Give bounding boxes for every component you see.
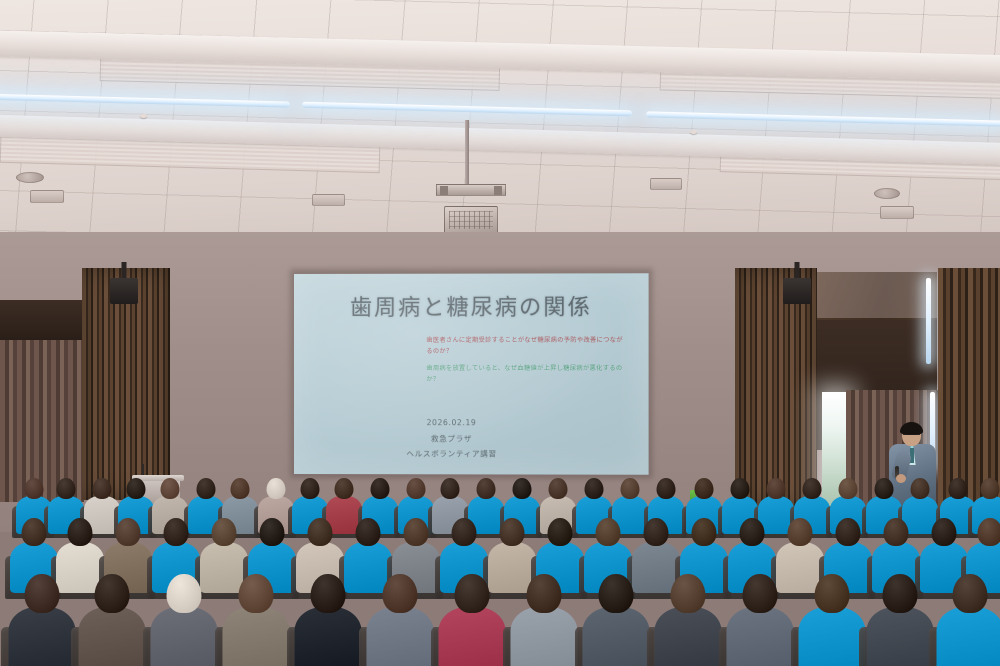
slide-footer-event: ヘルスボランティア講習 [294, 446, 610, 462]
audience-member-head [22, 518, 47, 546]
audience-member-head [836, 518, 861, 546]
audience-member-head [356, 518, 381, 546]
slide-surface: 歯周病と糖尿病の関係 歯医者さんに定期受診することがなぜ糖尿病の予防や改善につな… [294, 273, 649, 475]
audience-member-head [197, 478, 216, 499]
audience-member-head [212, 518, 237, 546]
audience-member-head [127, 478, 146, 499]
audience-member-head [500, 518, 525, 546]
audience-member [654, 574, 721, 666]
audience-member-head [548, 518, 573, 546]
audience-member-head [875, 478, 894, 499]
audience-member-head [742, 574, 777, 613]
audience-member-head [596, 518, 621, 546]
audience-member [936, 574, 1000, 666]
ceiling-round-vent-right [874, 188, 900, 199]
audience-member-head [441, 478, 460, 499]
wall-speaker-right [783, 278, 811, 304]
audience-member-head [166, 574, 201, 613]
audience-member-head [621, 478, 640, 499]
light-strip-vertical-upper [926, 278, 931, 364]
audience-member-head [407, 478, 426, 499]
audience-member [438, 574, 505, 666]
audience-member-head [657, 478, 676, 499]
audience-member [8, 574, 75, 666]
audience-member-head [803, 478, 822, 499]
audience-member-head [238, 574, 273, 613]
audience-member-head [404, 518, 429, 546]
audience-member-head [932, 518, 957, 546]
slide-footer-venue: 救急プラザ [294, 431, 610, 447]
audience-member [726, 574, 793, 666]
audience-member-torso [8, 607, 75, 666]
audience-member-head [814, 574, 849, 613]
audience-member-torso [866, 607, 933, 666]
projection-screen: 歯周病と糖尿病の関係 歯医者さんに定期受診することがなぜ糖尿病の予防や改善につな… [294, 273, 649, 475]
projector-mount-pole [465, 120, 469, 184]
audience-member-head [767, 478, 786, 499]
audience-member-head [382, 574, 417, 613]
audience-member-torso [654, 607, 721, 666]
audience-member-torso [150, 607, 217, 666]
audience-member-head [260, 518, 285, 546]
wall-recess-left [0, 300, 84, 340]
audience-member-head [949, 478, 968, 499]
audience-member-head [93, 478, 112, 499]
slide-footer: 2026.02.19 救急プラザ ヘルスボランティア講習 [294, 415, 610, 462]
audience-member-head [513, 478, 532, 499]
audience-member-head [526, 574, 561, 613]
audience-member-head [477, 478, 496, 499]
audience-member-head [585, 478, 604, 499]
audience-member-head [911, 478, 930, 499]
audience-member-head [695, 478, 714, 499]
audience-member-head [301, 478, 320, 499]
projector-mount-plate [436, 184, 506, 196]
audience-member-head [164, 518, 189, 546]
audience-member-head [549, 478, 568, 499]
audience-member [798, 574, 865, 666]
audience-member [150, 574, 217, 666]
audience-member-head [57, 478, 76, 499]
audience-member-head [452, 518, 477, 546]
wood-header-right [817, 272, 937, 320]
audience-member-torso [438, 607, 505, 666]
audience-member-torso [510, 607, 577, 666]
audience-member-head [788, 518, 813, 546]
audience-member-head [308, 518, 333, 546]
slide-title: 歯周病と糖尿病の関係 [294, 289, 649, 322]
audience-member-head [644, 518, 669, 546]
audience-member-head [670, 574, 705, 613]
ceiling-round-vent-left [16, 172, 44, 183]
smoke-detector-1 [140, 114, 147, 118]
audience-member-head [68, 518, 93, 546]
ceiling-duct-center [312, 194, 345, 206]
ceiling-duct-far-right [880, 206, 914, 219]
audience-member-head [335, 478, 354, 499]
audience-member-head [94, 574, 129, 613]
audience-member-head [371, 478, 390, 499]
audience-member [582, 574, 649, 666]
audience-member-torso [936, 607, 1000, 666]
audience-member-head [231, 478, 250, 499]
audience-member-head [952, 574, 987, 613]
slide-question-1: 歯医者さんに定期受診することがなぜ糖尿病の予防や改善につながるのか？ [426, 336, 624, 358]
audience-member [510, 574, 577, 666]
audience-member-head [692, 518, 717, 546]
audience-member-head [267, 478, 286, 499]
audience-member-torso [366, 607, 433, 666]
audience-member-torso [294, 607, 361, 666]
audience-member-torso [726, 607, 793, 666]
lecture-hall-photo: 歯周病と糖尿病の関係 歯医者さんに定期受診することがなぜ糖尿病の予防や改善につな… [0, 0, 1000, 666]
audience-member-head [740, 518, 765, 546]
audience-member-head [981, 478, 1000, 499]
audience-member-head [161, 478, 180, 499]
audience-member-head [25, 478, 44, 499]
ceiling-duct-left [30, 190, 64, 203]
audience-member [866, 574, 933, 666]
audience-member-head [882, 574, 917, 613]
audience-member-head [731, 478, 750, 499]
audience-member [366, 574, 433, 666]
audience-member-head [310, 574, 345, 613]
seated-audience [0, 470, 1000, 666]
audience-member-head [24, 574, 59, 613]
audience-member-torso [798, 607, 865, 666]
audience-member-torso [78, 607, 145, 666]
slide-question-2: 歯周病を放置していると、なぜ血糖値が上昇し糖尿病が悪化するのか？ [426, 364, 624, 386]
audience-member-head [839, 478, 858, 499]
wall-speaker-left [110, 278, 138, 304]
audience-member-head [454, 574, 489, 613]
audience-member-head [978, 518, 1000, 546]
audience-member-head [884, 518, 909, 546]
audience-member [222, 574, 289, 666]
audience-member-torso [582, 607, 649, 666]
audience-member-head [598, 574, 633, 613]
audience-member-torso [222, 607, 289, 666]
ceiling-duct-right [650, 178, 682, 190]
audience-member-head [116, 518, 141, 546]
audience-member [294, 574, 361, 666]
audience-member [78, 574, 145, 666]
slide-footer-date: 2026.02.19 [294, 415, 610, 431]
smoke-detector-2 [690, 130, 697, 134]
presenter-glasses [903, 434, 920, 437]
